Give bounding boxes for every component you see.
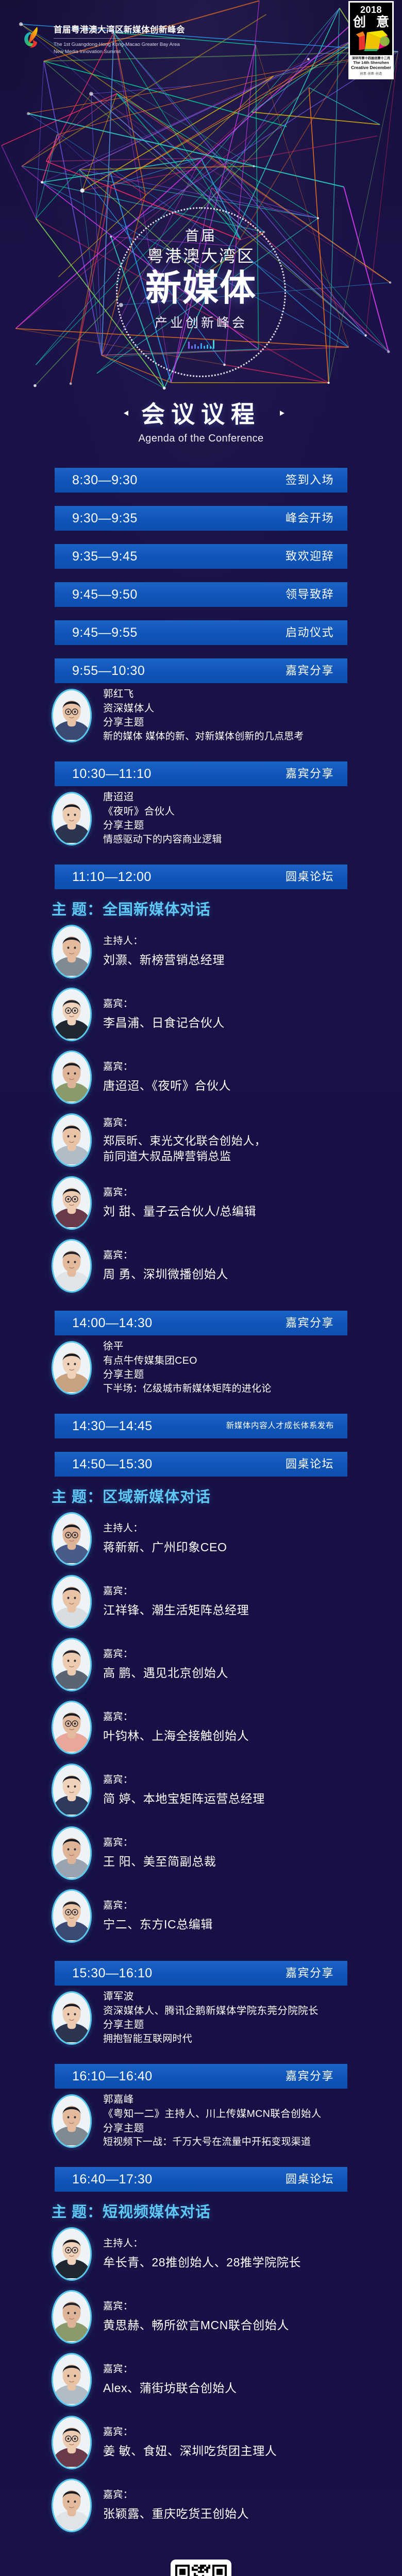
panelist-info: 嘉宾：郑辰昕、束光文化联合创始人，前同道大叔品牌营销总监 [92, 1116, 266, 1164]
panelist-name: 高 鹏、遇见北京创始人 [103, 1665, 228, 1682]
schedule-session-type: 启动仪式 [286, 627, 334, 638]
panelist-name: 宁二、东方IC总编辑 [103, 1916, 213, 1933]
schedule-time: 11:10—12:00 [72, 871, 152, 884]
panelist-entry: 嘉宾：郑辰昕、束光文化联合创始人，前同道大叔品牌营销总监 [0, 1109, 402, 1172]
panelist-info: 嘉宾：姜 敏、食妞、深圳吃货团主理人 [92, 2426, 277, 2460]
panelist-info: 嘉宾：李昌浦、日食记合伙人 [92, 997, 225, 1031]
conference-agenda-poster: 首届粤港澳大湾区新媒体创新峰会 The 1st Guangdong-Hong K… [0, 0, 402, 2576]
schedule-time: 10:30—11:10 [72, 768, 152, 781]
spacer [0, 569, 402, 582]
speaker-title: 资深媒体人 [103, 702, 304, 716]
schedule-time: 9:35—9:45 [72, 550, 138, 563]
panelist-entry: 嘉宾：王 阳、美至简副总裁 [0, 1822, 402, 1885]
avatar [52, 689, 92, 742]
spacer [0, 1438, 402, 1452]
hero-main-title: 新媒体 [0, 269, 402, 308]
schedule-session-type: 嘉宾分享 [286, 1968, 334, 1979]
spacer [0, 645, 402, 658]
panelist-entry: 主持人：牟长青、28推创始人、28推学院院长 [0, 2223, 402, 2285]
panel-topic-title: 主 题：区域新媒体对话 [52, 1485, 402, 1506]
qr-code[interactable] [175, 2565, 227, 2576]
speaker-theme-label: 分享主题 [103, 2018, 319, 2032]
panelist-role: 嘉宾： [103, 1899, 213, 1913]
avatar [52, 1050, 92, 1104]
brand-lockup: 首届粤港澳大湾区新媒体创新峰会 The 1st Guangdong-Hong K… [22, 24, 185, 56]
panelist-name: 郑辰昕、束光文化联合创始人，前同道大叔品牌营销总监 [103, 1133, 266, 1164]
schedule-session-type: 嘉宾分享 [286, 665, 334, 676]
panelist-role: 嘉宾： [103, 1060, 231, 1074]
speaker-title: 《夜听》合伙人 [103, 805, 222, 819]
schedule-time: 16:40—17:30 [72, 2173, 153, 2186]
speaker-name: 郭红飞 [103, 687, 304, 702]
agenda-title-en: Agenda of the Conference [0, 433, 402, 445]
schedule-time: 14:00—14:30 [72, 1317, 153, 1330]
panelist-info: 嘉宾：叶钧林、上海全接触创始人 [92, 1710, 249, 1744]
panelist-info: 嘉宾：简 婷、本地宝矩阵运营总经理 [92, 1773, 265, 1807]
speaker-name: 郭嘉峰 [103, 2093, 322, 2107]
panelist-info: 嘉宾：Alex、蒲街坊联合创始人 [92, 2363, 237, 2397]
panelist-entry: 嘉宾：叶钧林、上海全接触创始人 [0, 1696, 402, 1759]
schedule-time: 16:10—16:40 [72, 2070, 153, 2083]
speaker-theme: 情感驱动下的内容商业逻辑 [103, 833, 222, 847]
badge-number-art-icon [354, 29, 391, 52]
panelist-name: 叶钧林、上海全接触创始人 [103, 1727, 249, 1744]
schedule-time-bar[interactable]: 15:30—16:10嘉宾分享 [55, 1961, 347, 1986]
panelist-entry: 主持人：蒋新新、广州印象CEO [0, 1507, 402, 1570]
speaker-theme: 新的媒体 媒体的新、对新媒体创新的几点思考 [103, 730, 304, 744]
panelist-role: 嘉宾： [103, 1648, 228, 1662]
speaker-entry: 郭红飞资深媒体人分享主题新的媒体 媒体的新、对新媒体创新的几点思考 [0, 683, 402, 748]
schedule-time-bar[interactable]: 16:10—16:40嘉宾分享 [55, 2064, 347, 2089]
speaker-name: 徐平 [103, 1340, 271, 1354]
badge-caption-en2: Creative December [351, 65, 391, 71]
panelist-role: 主持人： [103, 1522, 227, 1536]
panelist-role: 嘉宾： [103, 1836, 216, 1850]
panelist-role: 嘉宾： [103, 997, 225, 1011]
avatar [52, 1701, 92, 1754]
avatar [52, 1991, 92, 2045]
panelist-info: 嘉宾：刘 甜、量子云合伙人/总编辑 [92, 1186, 256, 1220]
avatar [52, 1176, 92, 1230]
speaker-title: 资深媒体人、腾讯企鹅新媒体学院东莞分院院长 [103, 2004, 319, 2019]
avatar [52, 2416, 92, 2469]
panelist-role: 嘉宾： [103, 2363, 237, 2377]
schedule-session-type: 嘉宾分享 [286, 768, 334, 779]
schedule-time-bar[interactable]: 14:50—15:30圆桌论坛 [55, 1452, 347, 1477]
avatar [52, 2227, 92, 2281]
badge-slogan: 创意·创新·创造 [351, 71, 391, 76]
panelist-role: 嘉宾： [103, 2488, 249, 2502]
summit-logo-icon [22, 25, 48, 52]
equalizer-decoration-icon [179, 338, 223, 349]
panelist-role: 主持人： [103, 935, 225, 948]
avatar [52, 2479, 92, 2532]
schedule-session-type: 嘉宾分享 [286, 2071, 334, 2082]
spacer [0, 1297, 402, 1311]
schedule-session-type: 签到入场 [286, 474, 334, 486]
speaker-name: 谭军波 [103, 1990, 319, 2004]
schedule-session-type: 嘉宾分享 [286, 1317, 334, 1329]
avatar [52, 2290, 92, 2344]
schedule-session-type: 领导致辞 [286, 589, 334, 600]
avatar [52, 2094, 92, 2148]
panelist-name: 蒋新新、广州印象CEO [103, 1539, 227, 1556]
speaker-theme: 短视频下一战：千万大号在流量中开拓变现渠道 [103, 2136, 322, 2149]
panelist-entry: 嘉宾：Alex、蒲街坊联合创始人 [0, 2348, 402, 2411]
panelist-role: 嘉宾： [103, 1585, 249, 1599]
hero-prefix: 首届 [0, 228, 402, 244]
creative-december-badge: 2018 创 意 深圳市第十四届创意十二月 [348, 1, 394, 79]
speaker-entry: 徐平有点牛传媒集团CEO分享主题下半场：亿级城市新媒体矩阵的进化论 [0, 1335, 402, 1400]
schedule-time: 9:45—9:50 [72, 588, 138, 601]
spacer [0, 1947, 402, 1961]
spacer [0, 851, 402, 865]
speaker-entry: 唐迢迢《夜听》合伙人分享主题情感驱动下的内容商业逻辑 [0, 786, 402, 851]
panelist-entry: 嘉宾：高 鹏、遇见北京创始人 [0, 1633, 402, 1696]
schedule-time-bar[interactable]: 10:30—11:10嘉宾分享 [55, 761, 347, 786]
speaker-entry: 郭嘉峰《粤知一二》主持人、川上传媒MCN联合创始人分享主题短视频下一战：千万大号… [0, 2089, 402, 2154]
panelist-entry: 嘉宾：黄思赫、畅所欲言MCN联合创始人 [0, 2285, 402, 2348]
schedule-time-bar[interactable]: 16:40—17:30圆桌论坛 [55, 2167, 347, 2192]
schedule-time: 14:50—15:30 [72, 1458, 153, 1471]
schedule-time-bar[interactable]: 11:10—12:00圆桌论坛 [55, 865, 347, 889]
hero-region: 粤港澳大湾区 [0, 245, 402, 267]
schedule-session-type: 圆桌论坛 [286, 1459, 334, 1470]
avatar [52, 1239, 92, 1293]
schedule-session-type: 致欢迎辞 [286, 551, 334, 562]
schedule-time: 9:30—9:35 [72, 512, 138, 525]
panelist-info: 嘉宾：张颖露、重庆吃货王创始人 [92, 2488, 249, 2522]
schedule-time: 9:55—10:30 [72, 665, 145, 677]
registration-qr-card[interactable]: 识别二维码报名 [171, 2560, 231, 2576]
speaker-theme-label: 分享主题 [103, 716, 304, 730]
poster-footer: 识别二维码报名 2018/12/13 深圳·龙岗·中海凯骊酒店 指导单位：深圳市… [0, 2542, 402, 2576]
schedule-time-bar[interactable]: 9:55—10:30嘉宾分享 [55, 658, 347, 683]
panelist-entry: 嘉宾：姜 敏、食妞、深圳吃货团主理人 [0, 2411, 402, 2474]
panelist-entry: 主持人：刘灏、新榜营销总经理 [0, 920, 402, 983]
speaker-theme: 拥抱智能互联网时代 [103, 2032, 319, 2046]
panelist-role: 嘉宾： [103, 2426, 277, 2439]
speaker-info: 郭红飞资深媒体人分享主题新的媒体 媒体的新、对新媒体创新的几点思考 [92, 687, 304, 744]
panelist-name: Alex、蒲街坊联合创始人 [103, 2380, 237, 2397]
brand-title-en-line1: The 1st Guangdong-Hong Kong-Macao Greate… [54, 41, 185, 49]
schedule-time: 14:30—14:45 [72, 1420, 153, 1433]
avatar [52, 1826, 92, 1880]
speaker-theme-label: 分享主题 [103, 819, 222, 833]
avatar [52, 792, 92, 845]
panelist-entry: 嘉宾：李昌浦、日食记合伙人 [0, 983, 402, 1046]
speaker-info: 唐迢迢《夜听》合伙人分享主题情感驱动下的内容商业逻辑 [92, 790, 222, 847]
panelist-name: 刘 甜、量子云合伙人/总编辑 [103, 1203, 256, 1220]
panelist-name: 刘灏、新榜营销总经理 [103, 952, 225, 969]
schedule-time-bar[interactable]: 8:30—9:30签到入场 [55, 468, 347, 493]
speaker-theme-label: 分享主题 [103, 2122, 322, 2136]
agenda-title-cn: 会议议程 [141, 396, 261, 430]
panelist-entry: 嘉宾：江祥锋、潮生活矩阵总经理 [0, 1570, 402, 1633]
schedule-session-type: 峰会开场 [286, 513, 334, 524]
panelist-name: 周 勇、深圳微播创始人 [103, 1266, 228, 1283]
agenda-heading: 会议议程 Agenda of the Conference [0, 386, 402, 454]
spacer [0, 1400, 402, 1414]
badge-char-yi: 意 [376, 16, 389, 29]
spacer [0, 454, 402, 468]
panelist-name: 牟长青、28推创始人、28推学院院长 [103, 2254, 301, 2271]
panelist-info: 嘉宾：高 鹏、遇见北京创始人 [92, 1648, 228, 1682]
panelist-name: 唐迢迢、《夜听》合伙人 [103, 1077, 231, 1094]
avatar [52, 988, 92, 1041]
panelist-role: 嘉宾： [103, 1773, 265, 1787]
avatar [52, 1889, 92, 1943]
panelist-name: 黄思赫、畅所欲言MCN联合创始人 [103, 2317, 289, 2334]
speaker-entry: 谭军波资深媒体人、腾讯企鹅新媒体学院东莞分院院长分享主题拥抱智能互联网时代 [0, 1986, 402, 2050]
badge-year: 2018 [351, 4, 391, 15]
panelist-info: 主持人：刘灏、新榜营销总经理 [92, 935, 225, 969]
panelist-name: 李昌浦、日食记合伙人 [103, 1014, 225, 1031]
speaker-name: 唐迢迢 [103, 790, 222, 805]
panelist-entry: 嘉宾：宁二、东方IC总编辑 [0, 1885, 402, 1947]
spacer [0, 607, 402, 620]
panelist-info: 嘉宾：周 勇、深圳微播创始人 [92, 1249, 228, 1283]
schedule-time-bar[interactable]: 9:30—9:35峰会开场 [55, 506, 347, 531]
schedule-time: 9:45—9:55 [72, 626, 138, 639]
spacer [0, 2050, 402, 2064]
avatar [52, 1512, 92, 1566]
panelist-info: 主持人：蒋新新、广州印象CEO [92, 1522, 227, 1556]
speaker-theme-label: 分享主题 [103, 1368, 271, 1382]
schedule-time: 8:30—9:30 [72, 474, 138, 487]
avatar [52, 925, 92, 978]
avatar [52, 1764, 92, 1817]
schedule-time-bar[interactable]: 9:35—9:45致欢迎辞 [55, 544, 347, 569]
avatar [52, 1575, 92, 1629]
schedule-session-type: 圆桌论坛 [286, 871, 334, 883]
spacer [0, 748, 402, 761]
schedule-time-bar[interactable]: 14:30—14:45新媒体内容人才成长体系发布 [55, 1414, 347, 1438]
panelist-role: 嘉宾： [103, 1249, 228, 1263]
speaker-title: 有点牛传媒集团CEO [103, 1354, 271, 1368]
speaker-info: 郭嘉峰《粤知一二》主持人、川上传媒MCN联合创始人分享主题短视频下一战：千万大号… [92, 2093, 322, 2149]
panelist-name: 王 阳、美至简副总裁 [103, 1853, 216, 1870]
panel-topic-title: 主 题：全国新媒体对话 [52, 897, 402, 919]
panelist-role: 嘉宾： [103, 1186, 256, 1200]
avatar [52, 1113, 92, 1167]
panelist-info: 嘉宾：宁二、东方IC总编辑 [92, 1899, 213, 1933]
speaker-theme: 下半场：亿级城市新媒体矩阵的进化论 [103, 1382, 271, 1396]
speaker-info: 徐平有点牛传媒集团CEO分享主题下半场：亿级城市新媒体矩阵的进化论 [92, 1340, 271, 1396]
avatar [52, 1638, 92, 1691]
schedule-list: 8:30—9:30签到入场9:30—9:35峰会开场9:35—9:45致欢迎辞9… [0, 454, 402, 2542]
panelist-info: 嘉宾：黄思赫、畅所欲言MCN联合创始人 [92, 2300, 289, 2334]
brand-divider [54, 38, 185, 39]
brand-title-en-line2: New Media Innovation Summit [54, 48, 185, 56]
brand-title-cn: 首届粤港澳大湾区新媒体创新峰会 [54, 25, 185, 36]
hero-title-block: 首届 粤港澳大湾区 新媒体 产业创新峰会 [0, 222, 402, 386]
panelist-info: 嘉宾：王 阳、美至简副总裁 [92, 1836, 216, 1870]
panelist-entry: 嘉宾：简 婷、本地宝矩阵运营总经理 [0, 1759, 402, 1822]
badge-char-chuang: 创 [353, 16, 366, 29]
avatar [52, 2353, 92, 2406]
schedule-time-bar[interactable]: 14:00—14:30嘉宾分享 [55, 1311, 347, 1335]
panelist-entry: 嘉宾：唐迢迢、《夜听》合伙人 [0, 1046, 402, 1109]
avatar [52, 1341, 92, 1395]
spacer [0, 2154, 402, 2167]
spacer [0, 531, 402, 544]
panelist-entry: 嘉宾：刘 甜、量子云合伙人/总编辑 [0, 1172, 402, 1234]
hero-subtitle: 产业创新峰会 [0, 313, 402, 331]
schedule-time: 15:30—16:10 [72, 1967, 153, 1980]
schedule-time-bar[interactable]: 9:45—9:55启动仪式 [55, 620, 347, 645]
panelist-role: 嘉宾： [103, 1710, 249, 1724]
poster-header: 首届粤港澳大湾区新媒体创新峰会 The 1st Guangdong-Hong K… [0, 0, 402, 222]
panelist-entry: 嘉宾：周 勇、深圳微播创始人 [0, 1234, 402, 1297]
speaker-info: 谭军波资深媒体人、腾讯企鹅新媒体学院东莞分院院长分享主题拥抱智能互联网时代 [92, 1990, 319, 2046]
panelist-name: 张颖露、重庆吃货王创始人 [103, 2505, 249, 2522]
panelist-entry: 嘉宾：张颖露、重庆吃货王创始人 [0, 2474, 402, 2537]
panelist-name: 姜 敏、食妞、深圳吃货团主理人 [103, 2443, 277, 2460]
panelist-role: 嘉宾： [103, 2300, 289, 2314]
schedule-time-bar[interactable]: 9:45—9:50领导致辞 [55, 582, 347, 607]
panelist-info: 嘉宾：江祥锋、潮生活矩阵总经理 [92, 1585, 249, 1619]
panel-topic-title: 主 题：短视频媒体对话 [52, 2200, 402, 2222]
panelist-name: 江祥锋、潮生活矩阵总经理 [103, 1602, 249, 1619]
panelist-role: 主持人： [103, 2237, 301, 2251]
panelist-role: 嘉宾： [103, 1116, 266, 1130]
schedule-session-type: 新媒体内容人才成长体系发布 [226, 1422, 334, 1430]
panelist-name: 简 婷、本地宝矩阵运营总经理 [103, 1790, 265, 1807]
panelist-info: 主持人：牟长青、28推创始人、28推学院院长 [92, 2237, 301, 2271]
speaker-title: 《粤知一二》主持人、川上传媒MCN联合创始人 [103, 2107, 322, 2122]
spacer [0, 493, 402, 506]
schedule-session-type: 圆桌论坛 [286, 2174, 334, 2185]
panelist-info: 嘉宾：唐迢迢、《夜听》合伙人 [92, 1060, 231, 1094]
